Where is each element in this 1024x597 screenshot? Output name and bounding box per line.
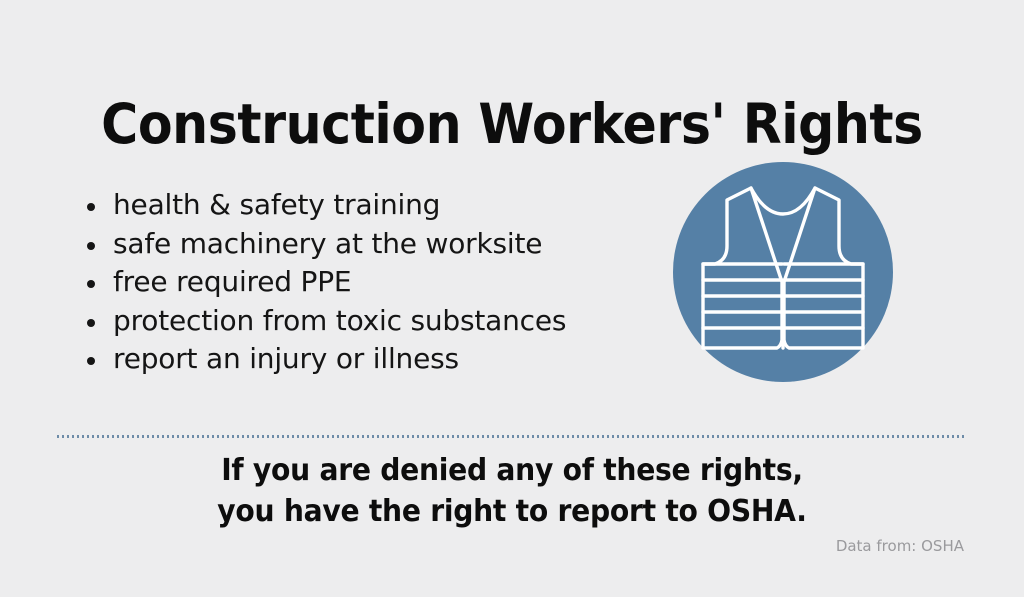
source-attribution: Data from: OSHA	[836, 536, 964, 556]
list-item-label: health & safety training	[113, 188, 440, 221]
infographic-poster: Construction Workers' Rights health & sa…	[0, 0, 1024, 597]
bullet-marker	[87, 319, 95, 327]
list-item: free required PPE	[80, 263, 660, 302]
dotted-divider	[57, 435, 966, 438]
list-item-label: free required PPE	[113, 265, 351, 298]
list-item-label: safe machinery at the worksite	[113, 227, 542, 260]
page-title: Construction Workers' Rights	[41, 93, 983, 155]
bullet-marker	[87, 357, 95, 365]
rights-list: health & safety training safe machinery …	[80, 186, 660, 379]
list-item: report an injury or illness	[80, 340, 660, 379]
list-item: protection from toxic substances	[80, 302, 660, 341]
cta-line-1: If you are denied any of these rights,	[31, 450, 994, 491]
bullet-marker	[87, 203, 95, 211]
cta-line-2: you have the right to report to OSHA.	[31, 491, 994, 532]
call-to-action: If you are denied any of these rights, y…	[31, 450, 994, 532]
bullet-marker	[87, 280, 95, 288]
list-item-label: protection from toxic substances	[113, 304, 566, 337]
list-item: health & safety training	[80, 186, 660, 225]
safety-vest-icon	[673, 162, 893, 382]
bullet-marker	[87, 242, 95, 250]
list-item: safe machinery at the worksite	[80, 225, 660, 264]
list-item-label: report an injury or illness	[113, 342, 459, 375]
